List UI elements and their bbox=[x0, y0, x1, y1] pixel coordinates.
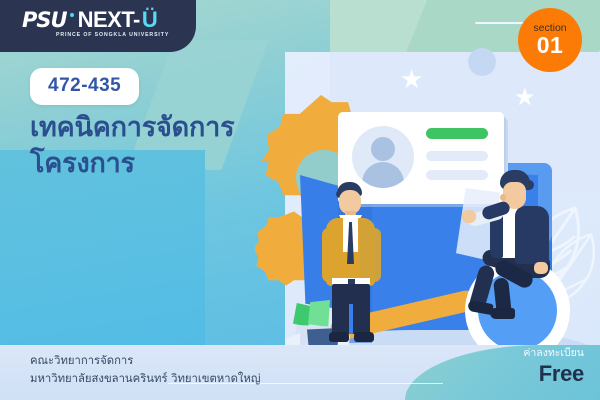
logo-psu-next-u[interactable]: PSU NEXT- Ü PRINCE OF SONGKLA UNIVERSITY bbox=[22, 10, 169, 38]
logo-u-text: Ü bbox=[142, 10, 158, 31]
section-badge: section 01 bbox=[518, 8, 582, 72]
logo-subtitle: PRINCE OF SONGKLA UNIVERSITY bbox=[56, 32, 169, 38]
logo-psu-text: PSU bbox=[22, 11, 67, 31]
fee-value: Free bbox=[523, 361, 584, 387]
figure-standing-man bbox=[318, 182, 384, 346]
footer-fee: ค่าลงทะเบียน Free bbox=[523, 347, 584, 387]
page-title: เทคนิคการจัดการ โครงการ bbox=[30, 110, 300, 181]
logo-next-text: NEXT- bbox=[78, 10, 140, 31]
footer-organization: คณะวิทยาการจัดการ มหาวิทยาลัยสงขลานครินท… bbox=[30, 352, 261, 389]
section-badge-number: 01 bbox=[537, 34, 564, 57]
course-title-line-1: เทคนิคการจัดการ bbox=[30, 110, 300, 146]
illustration bbox=[0, 0, 600, 400]
footer-faculty: คณะวิทยาการจัดการ bbox=[30, 352, 261, 370]
fee-label: ค่าลงทะเบียน bbox=[523, 347, 584, 361]
logo-dot-icon bbox=[70, 13, 74, 17]
course-code-badge: 472-435 bbox=[30, 68, 139, 105]
profile-card-accent-bar bbox=[426, 128, 488, 139]
course-poster: ★ ★ bbox=[0, 0, 600, 400]
avatar bbox=[352, 126, 414, 188]
footer-university: มหาวิทยาลัยสงขลานครินทร์ วิทยาเขตหาดใหญ่ bbox=[30, 370, 261, 388]
figure-sitting-man bbox=[460, 170, 565, 315]
course-title-line-2: โครงการ bbox=[30, 146, 300, 182]
profile-card-line bbox=[426, 151, 488, 161]
course-code-text: 472-435 bbox=[48, 75, 121, 96]
